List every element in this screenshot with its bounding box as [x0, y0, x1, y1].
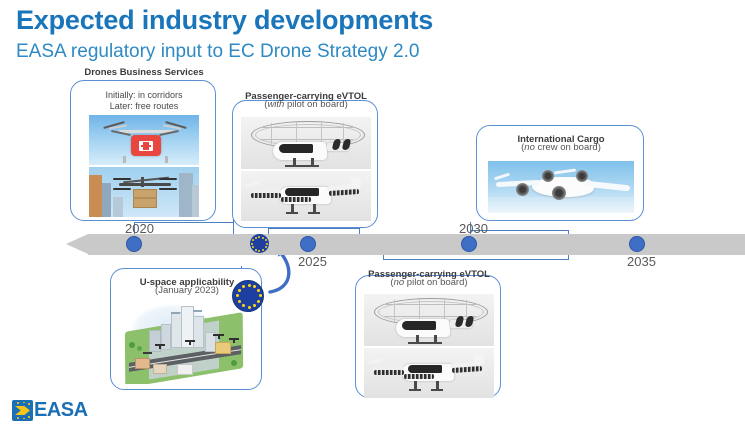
callout-evtol-nopilot-subtitle: (no pilot on board) [356, 277, 502, 289]
image-red-medical-delivery-drone [89, 115, 199, 165]
image-multirotor-evtol-top [241, 117, 371, 169]
callout-international-cargo[interactable]: International Cargo (no crew on board) [476, 125, 644, 221]
connector-evtol-pilot-horizontal [268, 228, 360, 229]
image-jet-evtol-bottom-2 [364, 348, 494, 398]
callout-evtol-pilot-sub-rest: pilot on board [284, 99, 344, 110]
callout-evtol-pilot-sub-italic: with [267, 99, 284, 110]
callout-cargo-sub-italic: no [524, 142, 535, 153]
callout-evtol-no-pilot[interactable]: Passenger-carrying eVTOL (no pilot on bo… [355, 275, 501, 398]
easa-swoosh-icon [15, 406, 30, 415]
page-title: Expected industry developments [16, 5, 433, 36]
image-package-delivery-drone-over-city [89, 167, 199, 217]
easa-logo-mark [12, 400, 33, 421]
callout-evtol-nopilot-sub-italic: no [394, 277, 405, 288]
callout-evtol-with-pilot[interactable]: Passenger-carrying eVTOL (with pilot on … [232, 100, 378, 228]
callout-u-space-applicability[interactable]: U-space applicability (January 2023) [110, 268, 262, 390]
callout-drones-line-1: Initially: in corridors [71, 90, 217, 102]
callout-drones-heading: Drones Business Services [71, 63, 217, 79]
image-jet-evtol-bottom [241, 171, 371, 221]
timeline-label-2030: 2030 [459, 221, 488, 236]
callout-cargo-subtitle: (no crew on board) [477, 142, 645, 154]
timeline-dot-2035[interactable] [629, 236, 645, 252]
slide-root: Expected industry developments EASA regu… [0, 0, 745, 427]
image-blended-wing-cargo-aircraft [488, 161, 634, 213]
timeline-label-2025: 2025 [298, 254, 327, 269]
image-multirotor-evtol-top-2 [364, 294, 494, 346]
timeline-dot-2025[interactable] [300, 236, 316, 252]
callout-drones-business-services[interactable]: Drones Business Services Initially: in c… [70, 80, 216, 221]
connector-evtol-nopilot-horizontal [383, 259, 569, 260]
timeline-label-2035: 2035 [627, 254, 656, 269]
timeline-label-2020: 2020 [125, 221, 154, 236]
eu-flag-icon [232, 280, 264, 312]
timeline-dot-2030[interactable] [461, 236, 477, 252]
image-isometric-smart-city-with-drones [119, 302, 255, 384]
eu-flag-marker[interactable] [250, 234, 269, 253]
callout-drones-line-2: Later: free routes [71, 101, 217, 113]
timeline-dot-2020[interactable] [126, 236, 142, 252]
callout-evtol-nopilot-sub-rest: pilot on board [404, 277, 464, 288]
page-subtitle: EASA regulatory input to EC Drone Strate… [16, 41, 419, 63]
callout-cargo-sub-rest: crew on board [535, 142, 598, 153]
easa-logo-text: EASA [34, 399, 88, 422]
timeline-band [88, 234, 745, 255]
timeline-left-arrow [66, 234, 88, 254]
callout-evtol-pilot-subtitle: (with pilot on board) [233, 99, 379, 111]
